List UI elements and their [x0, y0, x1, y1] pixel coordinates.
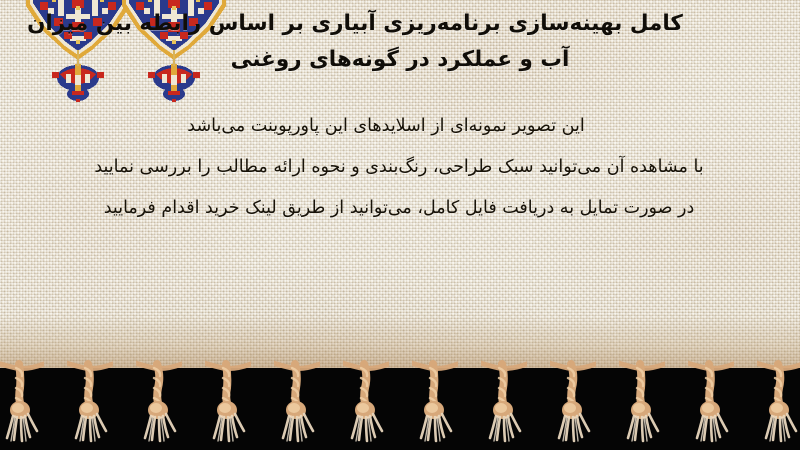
slide-title-line-1: کامل بهینه‌سازی برنامه‌ریزی آبیاری بر اس… — [12, 6, 788, 42]
carpet-fringe-tassel — [481, 352, 527, 448]
slide-title: کامل بهینه‌سازی برنامه‌ریزی آبیاری بر اس… — [12, 6, 788, 78]
carpet-fringe-tassel — [274, 352, 320, 448]
slide-canvas: کامل بهینه‌سازی برنامه‌ریزی آبیاری بر اس… — [0, 0, 800, 450]
carpet-fringe-tassel — [0, 352, 44, 448]
body-line-3: در صورت تمایل به دریافت فایل کامل، می‌تو… — [10, 188, 788, 229]
carpet-fringe-tassel — [412, 352, 458, 448]
carpet-fringe-tassel — [343, 352, 389, 448]
slide-body-text: این تصویر نمونه‌ای از اسلایدهای این پاور… — [10, 106, 788, 229]
carpet-fringe-tassel — [550, 352, 596, 448]
carpet-fringe-tassel — [619, 352, 665, 448]
body-line-2: با مشاهده آن می‌توانید سبک طراحی، رنگ‌بن… — [10, 147, 788, 188]
carpet-fringe-tassel — [67, 352, 113, 448]
body-line-1: این تصویر نمونه‌ای از اسلایدهای این پاور… — [10, 106, 788, 147]
carpet-fringe-tassel — [136, 352, 182, 448]
slide-title-line-2: آب و عملکرد در گونه‌های روغنی — [12, 42, 788, 78]
carpet-fringe-tassel — [688, 352, 734, 448]
carpet-fringe-tassel — [205, 352, 251, 448]
carpet-fringe-tassel — [757, 352, 800, 448]
carpet-fringe-row — [0, 352, 800, 450]
